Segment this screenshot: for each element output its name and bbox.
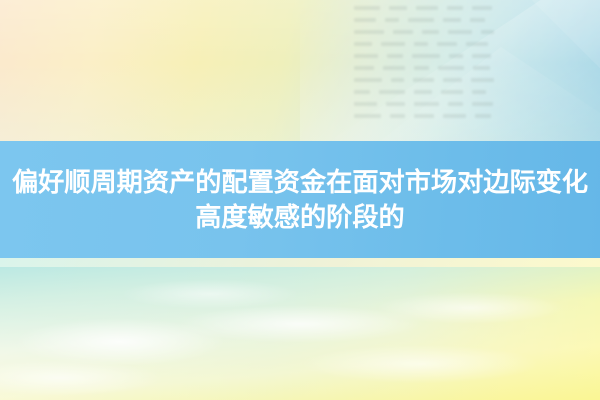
headline-band: 偏好顺周期资产的配置资金在面对市场对边际变化 高度敏感的阶段的 <box>0 141 600 258</box>
diagonal-facet-icon <box>420 0 600 110</box>
bottom-sky-panel <box>0 258 600 400</box>
diagonal-facet-icon <box>330 0 600 141</box>
diagonal-facet-icon <box>380 14 600 141</box>
haze-strip <box>0 258 600 267</box>
ghost-table-watermark <box>352 6 562 134</box>
top-gradient-panel <box>0 0 600 141</box>
headline-line-2: 高度敏感的阶段的 <box>0 200 600 235</box>
banner-image: 偏好顺周期资产的配置资金在面对市场对边际变化 高度敏感的阶段的 <box>0 0 600 400</box>
headline-line-1: 偏好顺周期资产的配置资金在面对市场对边际变化 <box>0 165 600 200</box>
diagonal-facet-icon <box>300 0 600 141</box>
